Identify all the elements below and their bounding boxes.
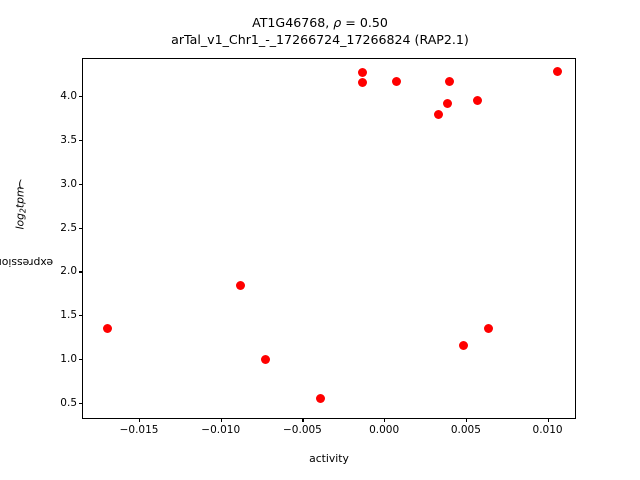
y-axis-tick (79, 184, 83, 185)
y-axis-tick (79, 359, 83, 360)
x-axis-tick-label: −0.005 (283, 424, 322, 436)
y-axis-tick (79, 96, 83, 97)
y-axis-tick (79, 315, 83, 316)
scatter-point (236, 281, 245, 290)
scatter-point (459, 341, 468, 350)
y-axis-tick (79, 403, 83, 404)
x-axis-tick (221, 418, 222, 422)
plot-data-area (83, 59, 575, 418)
x-axis-tick (384, 418, 385, 422)
x-axis-tick (548, 418, 549, 422)
y-axis-label-suffix: ) (19, 178, 23, 191)
y-axis-label-math-sub: 2 (19, 208, 28, 213)
scatter-point (443, 99, 452, 108)
scatter-point (316, 394, 325, 403)
scatter-point (484, 324, 493, 333)
x-axis-tick (466, 418, 467, 422)
y-axis-tick-label: 3.5 (60, 134, 77, 146)
y-axis-tick-label: 2.5 (60, 222, 77, 234)
y-axis-tick-label: 2.0 (60, 265, 77, 277)
y-axis-label: expression (log2tpm) (13, 58, 29, 419)
chart-title-rho-value: = 0.50 (345, 15, 388, 30)
x-axis-tick-label: −0.010 (201, 424, 240, 436)
scatter-plot-figure: AT1G46768, ρ = 0.50 arTal_v1_Chr1_-_1726… (0, 0, 640, 480)
chart-title: AT1G46768, ρ = 0.50 arTal_v1_Chr1_-_1726… (0, 14, 640, 48)
y-axis-label-math-base: log (14, 213, 27, 229)
y-axis-tick (79, 140, 83, 141)
scatter-point (434, 110, 443, 119)
chart-title-gene: AT1G46768, (252, 15, 329, 30)
chart-title-rho-symbol: ρ (333, 15, 341, 30)
x-axis-tick (302, 418, 303, 422)
x-axis-tick-label: 0.010 (533, 424, 563, 436)
y-axis-tick-label: 1.5 (60, 309, 77, 321)
y-axis-tick-label: 0.5 (60, 397, 77, 409)
y-axis-tick-label: 1.0 (60, 353, 77, 365)
chart-title-line-1: AT1G46768, ρ = 0.50 (0, 14, 640, 31)
scatter-point (358, 68, 367, 77)
x-axis-tick-label: 0.000 (369, 424, 399, 436)
chart-subtitle: arTal_v1_Chr1_-_17266724_17266824 (RAP2.… (0, 31, 640, 48)
x-axis-label: activity (82, 452, 576, 465)
x-axis-tick-label: 0.005 (451, 424, 481, 436)
scatter-point (553, 67, 562, 76)
y-axis-tick-label: 4.0 (60, 90, 77, 102)
y-axis-tick-label: 3.0 (60, 178, 77, 190)
x-axis-tick-label: −0.015 (120, 424, 159, 436)
scatter-point (103, 324, 112, 333)
x-axis-tick (139, 418, 140, 422)
scatter-point (473, 96, 482, 105)
scatter-point (445, 77, 454, 86)
scatter-point (358, 78, 367, 87)
y-axis-label-prefix: expression ( (0, 256, 54, 269)
plot-axes: −0.015−0.010−0.0050.0000.0050.0100.51.01… (82, 58, 576, 419)
scatter-point (392, 77, 401, 86)
scatter-point (261, 355, 270, 364)
y-axis-tick (79, 271, 83, 272)
y-axis-tick (79, 228, 83, 229)
